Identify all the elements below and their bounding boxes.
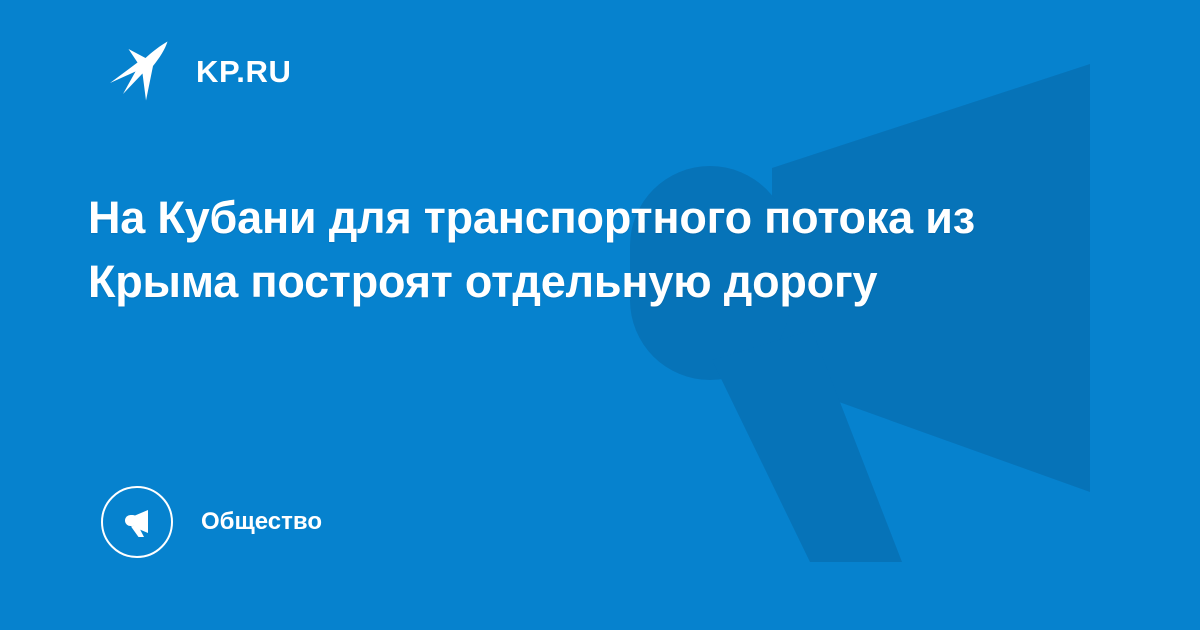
- rubric-label: Общество: [201, 510, 322, 534]
- brand-name: KP.RU: [196, 56, 291, 87]
- rubric[interactable]: Общество: [101, 486, 322, 558]
- swallow-bird-icon: [104, 36, 174, 106]
- brand-lockup[interactable]: KP.RU: [104, 36, 291, 106]
- rubric-badge[interactable]: [101, 486, 173, 558]
- page-title: На Кубани для транспортного потока из Кр…: [88, 186, 988, 314]
- megaphone-icon: [118, 503, 156, 541]
- social-share-card: KP.RU На Кубани для транспортного потока…: [0, 0, 1200, 630]
